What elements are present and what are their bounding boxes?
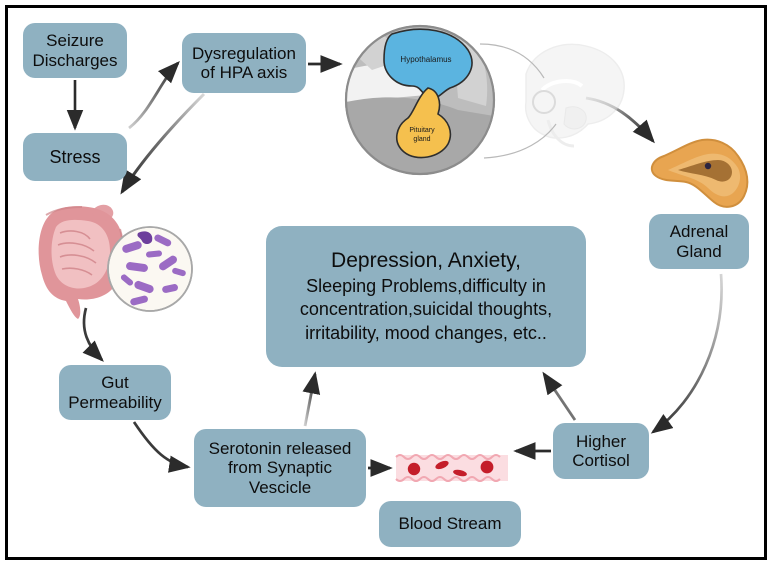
- edge-gut-permeability-to-serotonin: [134, 422, 188, 467]
- node-stress[interactable]: Stress: [23, 133, 127, 181]
- node-seizure-discharges-label: Seizure Discharges: [32, 31, 117, 69]
- hypothalamus-label: Hypothalamus: [400, 55, 451, 64]
- node-dysregulation-of-hpa-axis[interactable]: Dysregulation of HPA axis: [182, 33, 306, 93]
- symptoms-line-4: irritability, mood changes, etc..: [300, 322, 552, 346]
- node-dysregulation-of-hpa-axis-label: Dysregulation of HPA axis: [192, 44, 296, 82]
- node-adrenal-gland[interactable]: Adrenal Gland: [649, 214, 749, 269]
- node-gut-permeability[interactable]: Gut Permeability: [59, 365, 171, 420]
- edge-hpa-to-gut: [122, 94, 204, 192]
- node-gut-permeability-label: Gut Permeability: [68, 373, 162, 411]
- node-blood-stream-label: Blood Stream: [399, 514, 502, 533]
- node-seizure-discharges[interactable]: Seizure Discharges: [23, 23, 127, 78]
- brain-silhouette-icon: [526, 44, 625, 146]
- symptoms-line-2: Sleeping Problems,difficulty in: [300, 275, 552, 299]
- node-serotonin-label: Serotonin released from Synaptic Vescicl…: [209, 439, 352, 496]
- pituitary-label-line2: gland: [413, 136, 430, 143]
- node-serotonin-released-from-synaptic-vescicle[interactable]: Serotonin released from Synaptic Vescicl…: [194, 429, 366, 507]
- intestine-with-microbiota-inset: [26, 193, 206, 323]
- edge-serotonin-to-symptoms: [305, 374, 315, 426]
- node-higher-cortisol-label: Higher Cortisol: [572, 432, 630, 470]
- node-blood-stream[interactable]: Blood Stream: [379, 501, 521, 547]
- symptoms-line-3: concentration,suicidal thoughts,: [300, 298, 552, 322]
- diagram-canvas: Hypothalamus Pituitary gland: [8, 8, 764, 557]
- microbiota-circle-inset: [108, 227, 192, 311]
- brain-hypothalamus-pituitary-inset: Hypothalamus Pituitary gland: [338, 16, 638, 181]
- node-adrenal-gland-label: Adrenal Gland: [670, 222, 729, 260]
- edge-higher-cortisol-to-symptoms: [544, 374, 575, 420]
- adrenal-gland-icon: [638, 126, 758, 218]
- edge-adrenal-to-higher-cortisol: [653, 274, 722, 432]
- symptoms-line-1: Depression, Anxiety,: [300, 247, 552, 275]
- blood-vessel-with-red-blood-cells: [394, 451, 510, 485]
- node-higher-cortisol[interactable]: Higher Cortisol: [553, 423, 649, 479]
- node-stress-label: Stress: [49, 147, 100, 167]
- node-symptoms[interactable]: Depression, Anxiety, Sleeping Problems,d…: [266, 226, 586, 367]
- edge-stress-to-hpa: [129, 63, 178, 128]
- figure-frame: Hypothalamus Pituitary gland: [5, 5, 767, 560]
- pituitary-label-line1: Pituitary: [409, 127, 435, 134]
- hypothalamus-pituitary-circle: Hypothalamus Pituitary gland: [346, 26, 494, 174]
